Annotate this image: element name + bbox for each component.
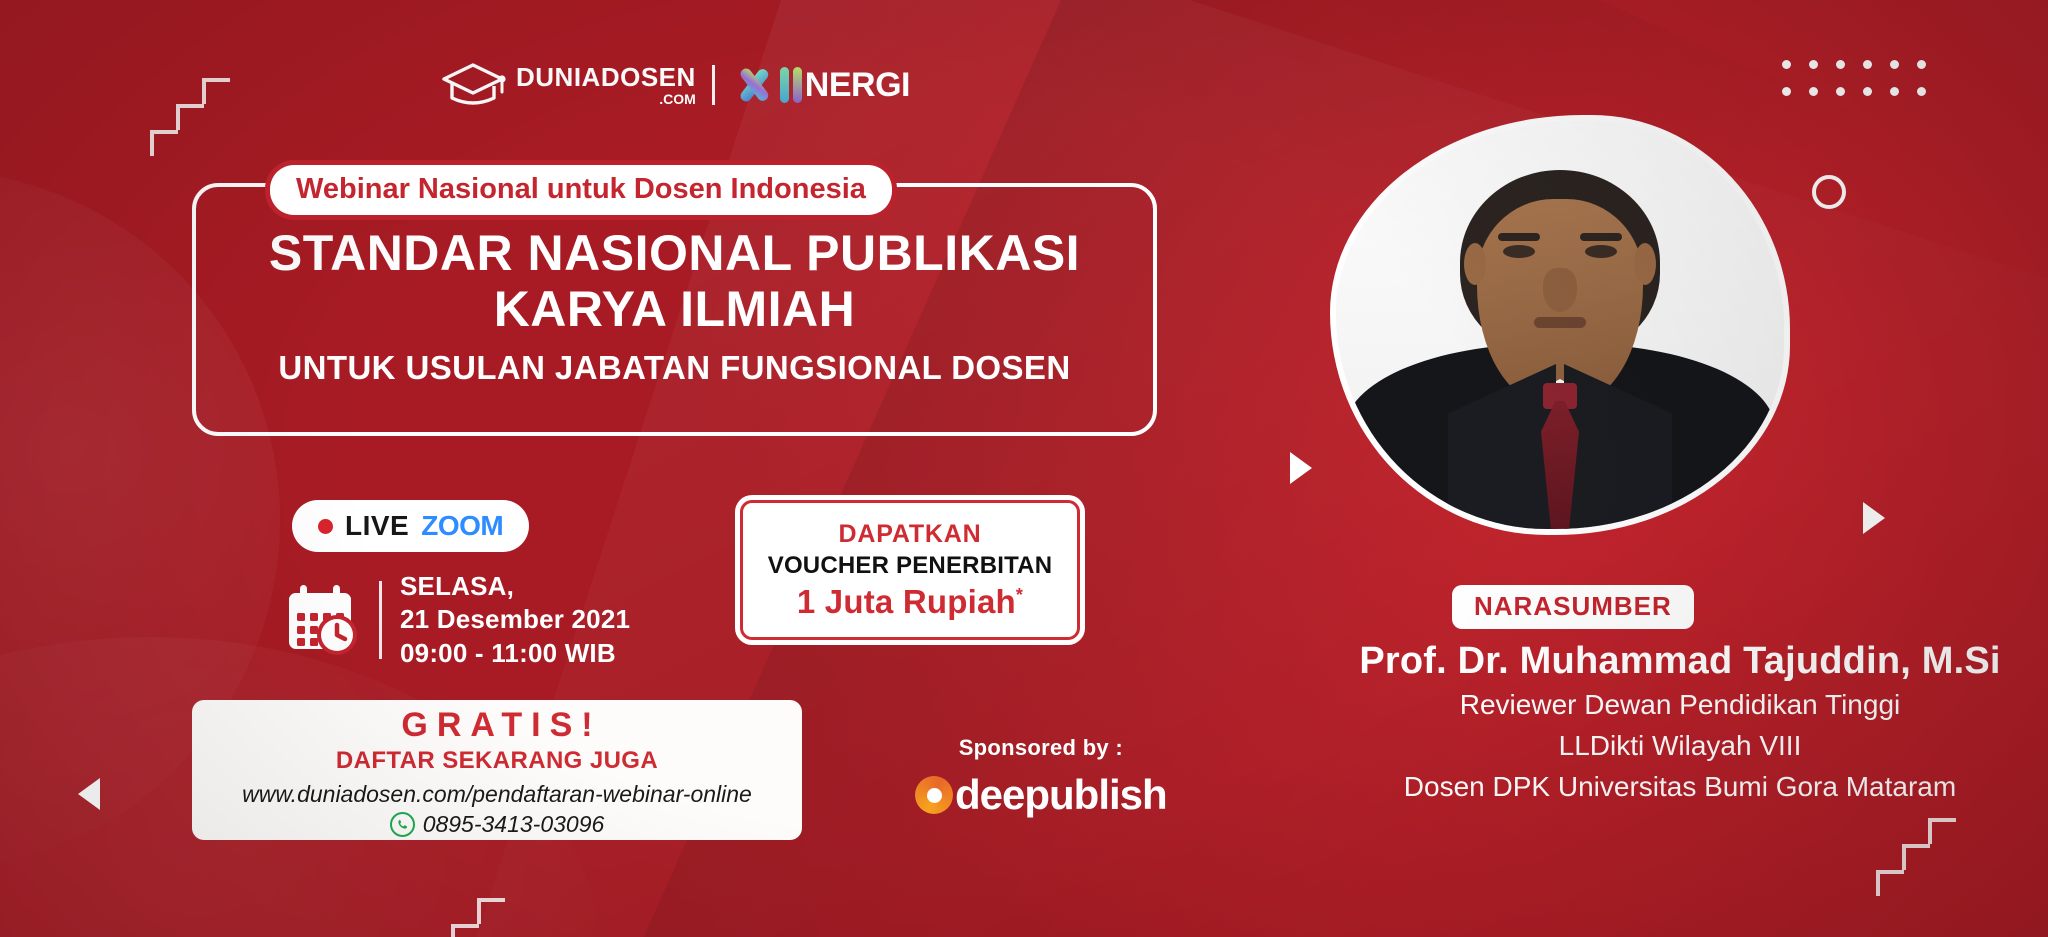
brand-logo-row: DUNIADOSEN .COM xyxy=(440,62,910,108)
duniadosen-logo: DUNIADOSEN .COM xyxy=(440,62,696,108)
webinar-banner: DUNIADOSEN .COM xyxy=(0,0,2048,937)
speaker-portrait xyxy=(1330,115,1790,535)
deepublish-circle-icon xyxy=(915,776,953,814)
schedule-block: SELASA, 21 Desember 2021 09:00 - 11:00 W… xyxy=(285,570,630,670)
ii-bars-icon xyxy=(780,67,802,103)
title-line-2: KARYA ILMIAH xyxy=(196,281,1153,337)
speaker-name: Prof. Dr. Muhammad Tajuddin, M.Si xyxy=(1180,640,2048,683)
whatsapp-number: 0895-3413-03096 xyxy=(423,811,605,838)
webinar-category-badge: Webinar Nasional untuk Dosen Indonesia xyxy=(270,165,892,215)
zoom-platform-label: ZOOM xyxy=(421,510,503,542)
whatsapp-contact[interactable]: 0895-3413-03096 xyxy=(390,811,605,838)
speaker-role-line-1: Reviewer Dewan Pendidikan Tinggi xyxy=(1180,687,2048,724)
voucher-asterisk: * xyxy=(1016,585,1023,605)
duniadosen-domain: .COM xyxy=(516,92,696,106)
registration-url[interactable]: www.duniadosen.com/pendaftaran-webinar-o… xyxy=(242,781,752,808)
title-line-3: UNTUK USULAN JABATAN FUNGSIONAL DOSEN xyxy=(196,349,1153,387)
registration-box: GRATIS! DAFTAR SEKARANG JUGA www.duniado… xyxy=(192,700,802,840)
schedule-day: SELASA, xyxy=(400,570,630,603)
voucher-heading: DAPATKAN xyxy=(839,520,982,549)
x-mark-icon xyxy=(731,64,777,106)
graduation-cap-icon xyxy=(440,62,506,108)
sponsor-block: Sponsored by : deepublish xyxy=(915,735,1167,819)
speaker-role-badge: NARASUMBER xyxy=(1452,585,1694,629)
triangle-right-decor xyxy=(1290,452,1312,484)
title-line-1: STANDAR NASIONAL PUBLIKASI xyxy=(196,225,1153,281)
schedule-date: 21 Desember 2021 xyxy=(400,603,630,636)
schedule-divider xyxy=(379,581,382,659)
whatsapp-icon xyxy=(390,812,415,837)
register-cta: DAFTAR SEKARANG JUGA xyxy=(336,747,658,775)
speaker-role-line-3: Dosen DPK Universitas Bumi Gora Mataram xyxy=(1180,769,2048,806)
xiinergi-logo: NERGI xyxy=(731,64,910,106)
speaker-photo-frame xyxy=(1330,115,1790,535)
live-label: LIVE xyxy=(345,510,409,542)
schedule-time: 09:00 - 11:00 WIB xyxy=(400,637,630,670)
dot-grid-decor xyxy=(1782,60,1926,96)
xiinergi-wordmark: NERGI xyxy=(805,66,910,105)
stair-decor-icon xyxy=(150,78,230,156)
sponsor-name: deepublish xyxy=(955,771,1167,819)
speaker-role-line-2: LLDikti Wilayah VIII xyxy=(1180,728,2048,765)
logo-divider xyxy=(712,65,715,105)
voucher-amount: 1 Juta Rupiah xyxy=(797,583,1016,620)
calendar-clock-icon xyxy=(285,583,361,657)
duniadosen-wordmark: DUNIADOSEN xyxy=(516,64,696,90)
schedule-text: SELASA, 21 Desember 2021 09:00 - 11:00 W… xyxy=(400,570,630,670)
voucher-subheading: VOUCHER PENERBITAN xyxy=(768,552,1053,580)
title-frame: STANDAR NASIONAL PUBLIKASI KARYA ILMIAH … xyxy=(192,183,1157,436)
triangle-right-decor xyxy=(1863,502,1885,534)
stair-decor-icon xyxy=(1876,818,1956,896)
title-text-group: STANDAR NASIONAL PUBLIKASI KARYA ILMIAH … xyxy=(196,225,1153,387)
sponsor-brand: deepublish xyxy=(915,771,1167,819)
voucher-amount-row: 1 Juta Rupiah* xyxy=(797,583,1023,621)
circle-outline-decor xyxy=(1812,175,1846,209)
sponsor-label: Sponsored by : xyxy=(915,735,1167,761)
free-label: GRATIS! xyxy=(401,706,601,745)
live-zoom-badge: LIVE ZOOM xyxy=(292,500,529,552)
voucher-box: DAPATKAN VOUCHER PENERBITAN 1 Juta Rupia… xyxy=(740,500,1080,640)
record-dot-icon xyxy=(318,519,333,534)
triangle-left-decor xyxy=(78,778,100,810)
speaker-info: Prof. Dr. Muhammad Tajuddin, M.Si Review… xyxy=(1180,640,2048,806)
